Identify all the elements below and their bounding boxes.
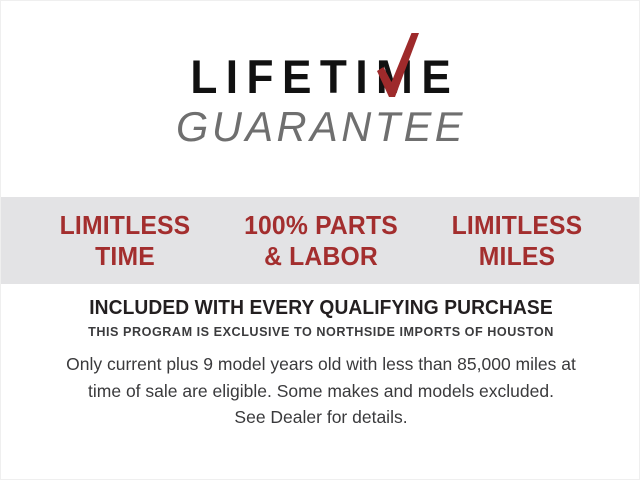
feature-line-2: & LABOR (228, 241, 414, 271)
logo-lockup: LIFETIME (173, 53, 468, 100)
feature-column-limitless-time: LIMITLESS TIME (32, 210, 218, 270)
feature-line-2: TIME (32, 241, 218, 271)
fineprint-line-1: Only current plus 9 model years old with… (53, 351, 589, 378)
offer-headline: INCLUDED WITH EVERY QUALIFYING PURCHASE (14, 297, 628, 320)
fineprint-line-2: time of sale are eligible. Some makes an… (53, 378, 589, 405)
feature-band: LIMITLESS TIME 100% PARTS & LABOR LIMITL… (1, 197, 640, 284)
feature-line-1: 100% PARTS (244, 210, 398, 240)
feature-column-parts-labor: 100% PARTS & LABOR (228, 210, 414, 270)
logo-guarantee-text: GUARANTEE (4, 106, 638, 148)
offer-subhead: THIS PROGRAM IS EXCLUSIVE TO NORTHSIDE I… (11, 324, 632, 339)
feature-column-limitless-miles: LIMITLESS MILES (424, 210, 610, 270)
feature-line-2: MILES (424, 241, 610, 271)
lifetime-guarantee-ad: LIFETIME GUARANTEE LIMITLESS TIME 100% P… (0, 0, 640, 480)
logo-block: LIFETIME GUARANTEE (1, 53, 640, 148)
feature-line-1: LIMITLESS (452, 210, 583, 240)
logo-lifetime-text: LIFETIME (182, 53, 459, 100)
offer-fineprint: Only current plus 9 model years old with… (53, 351, 589, 431)
fineprint-line-3: See Dealer for details. (53, 404, 589, 431)
feature-line-1: LIMITLESS (60, 210, 191, 240)
